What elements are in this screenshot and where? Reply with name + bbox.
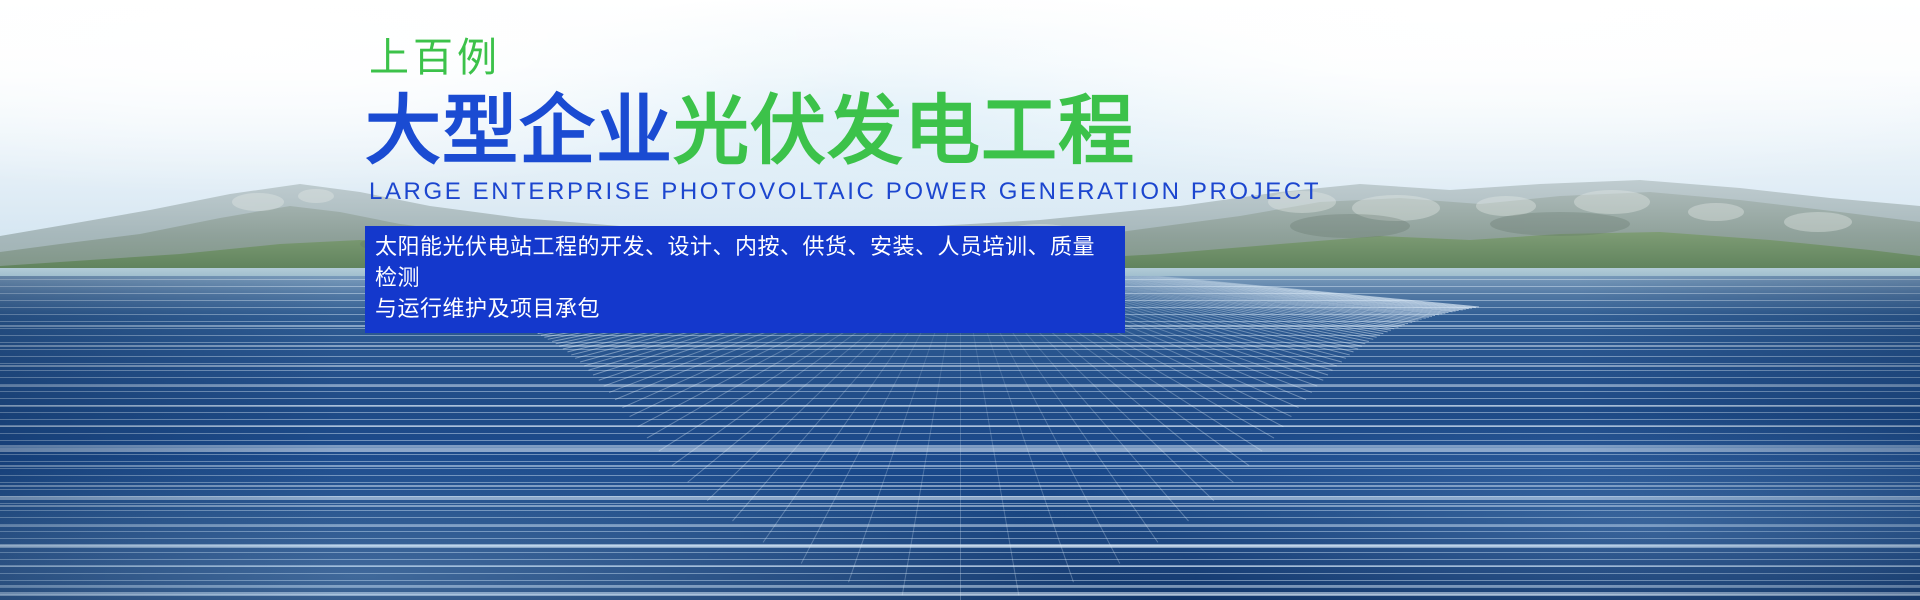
headline-blue-part: 大型企业 [365,86,673,175]
subtitle-english: LARGE ENTERPRISE PHOTOVOLTAIC POWER GENE… [369,180,1565,204]
headline-green-part: 光伏发电工程 [673,86,1135,175]
description-line-1: 太阳能光伏电站工程的开发、设计、内按、供货、安装、人员培训、质量检测 [375,232,1115,294]
eyebrow-text: 上百例 [369,38,1565,78]
description-box: 太阳能光伏电站工程的开发、设计、内按、供货、安装、人员培训、质量检测 与运行维护… [365,226,1125,334]
page-title: 大型企业光伏发电工程 [365,92,1565,170]
hero-banner: 上百例 大型企业光伏发电工程 LARGE ENTERPRISE PHOTOVOL… [0,0,1920,600]
description-line-2: 与运行维护及项目承包 [375,294,1115,325]
banner-copy: 上百例 大型企业光伏发电工程 LARGE ENTERPRISE PHOTOVOL… [365,38,1565,333]
